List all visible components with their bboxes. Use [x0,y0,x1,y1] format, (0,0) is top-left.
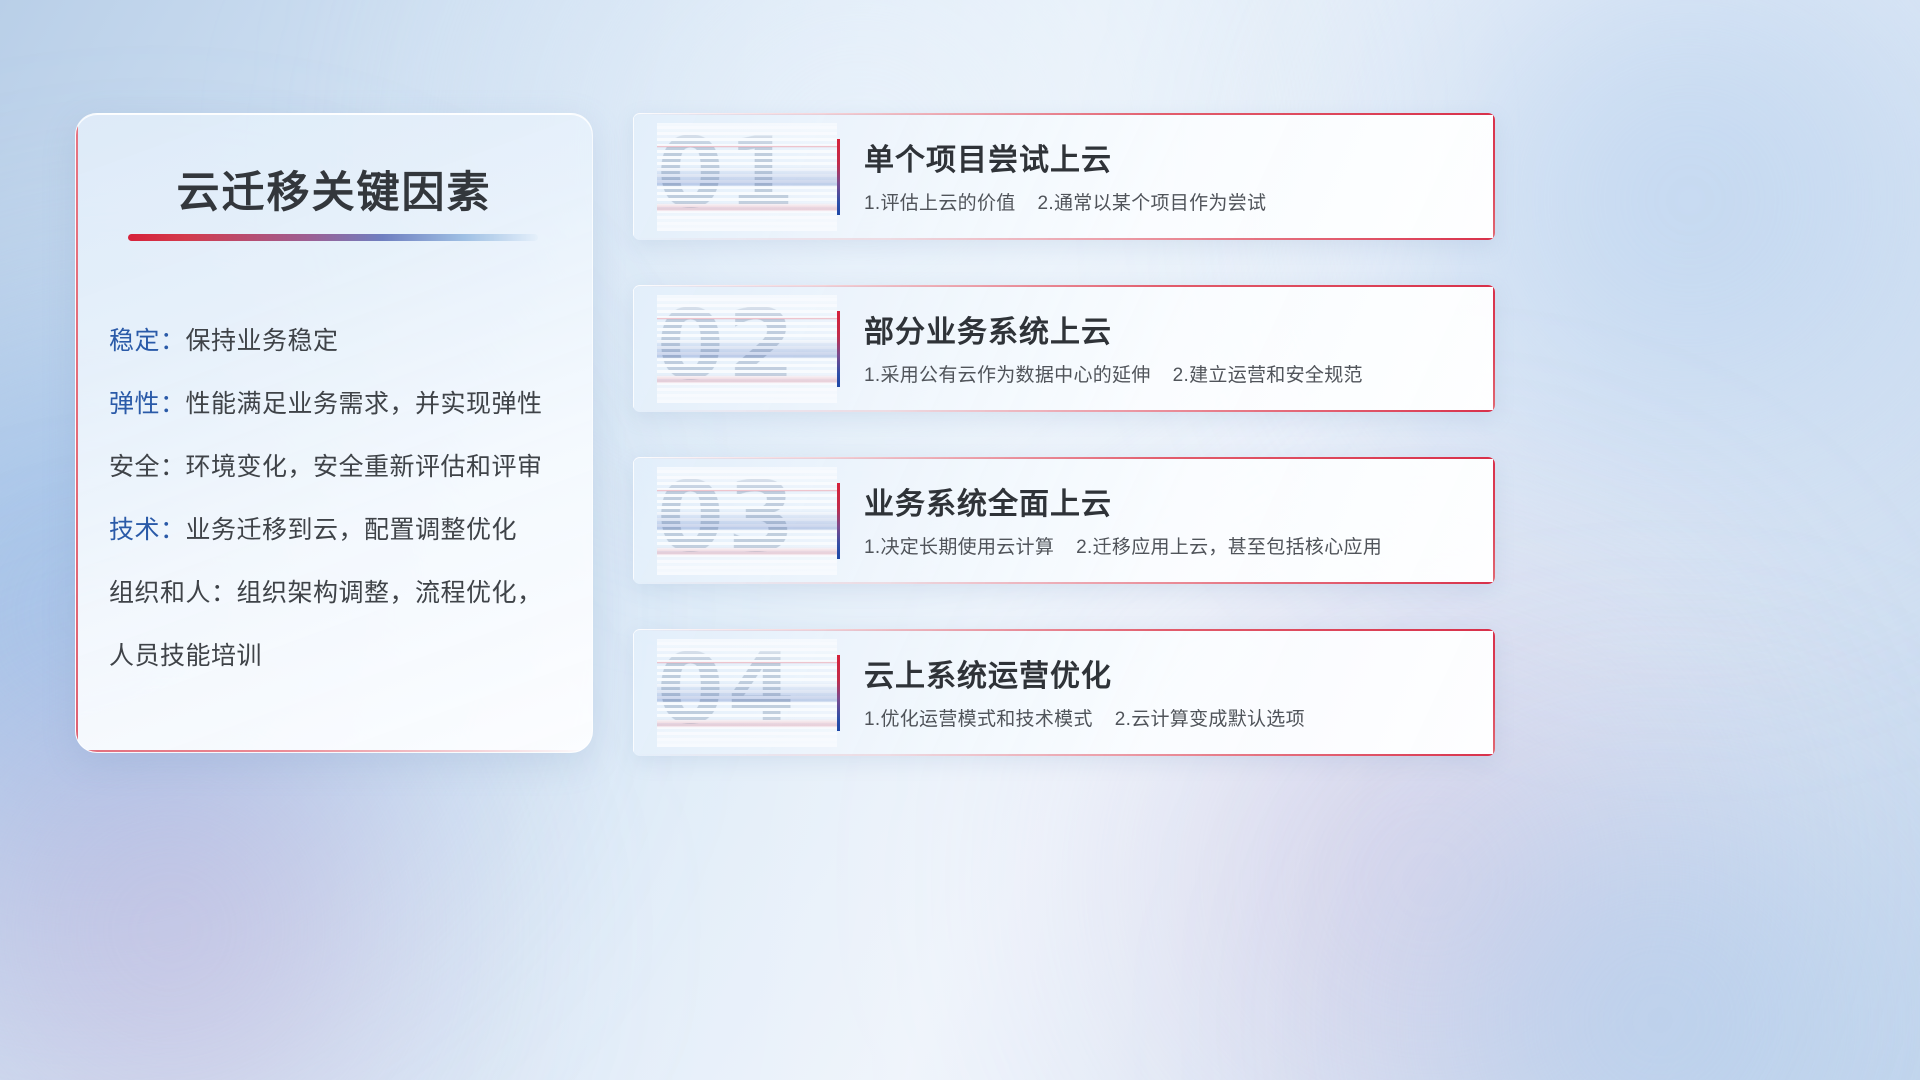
card-subtitle: 1.采用公有云作为数据中心的延伸2.建立运营和安全规范 [864,360,1363,387]
glitch-fade [657,123,837,231]
card-edge-right [1493,629,1495,756]
stage-card-04[interactable]: 04 云上系统运营优化 1.优化运营模式和技术模式2.云计算变成默认选项 [633,629,1495,756]
key-factors-panel: 云迁移关键因素 稳定：保持业务稳定 弹性：性能满足业务需求，并实现弹性 安全：环… [75,113,593,753]
card-edge-top [633,457,1495,459]
list-item: 组织和人：组织架构调整，流程优化， [109,562,564,625]
card-edge-left [633,113,634,240]
stage-number-glitch-icon: 04 [657,639,837,747]
card-edge-top [633,113,1495,115]
card-subtitle: 1.评估上云的价值2.通常以某个项目作为尝试 [864,188,1266,215]
factor-text: 人员技能培训 [109,642,262,670]
card-subtitle-part-1: 1.决定长期使用云计算 [864,537,1054,558]
stage-number-glitch-icon: 02 [657,295,837,403]
card-title: 云上系统运营优化 [864,651,1112,695]
card-divider-bar [837,139,840,215]
card-subtitle-part-2: 2.建立运营和安全规范 [1173,365,1363,386]
card-title: 部分业务系统上云 [864,307,1112,351]
card-edge-right [1493,113,1495,240]
factor-text: 保持业务稳定 [186,327,339,355]
stage-card-03[interactable]: 03 业务系统全面上云 1.决定长期使用云计算2.迁移应用上云，甚至包括核心应用 [633,457,1495,584]
card-subtitle: 1.决定长期使用云计算2.迁移应用上云，甚至包括核心应用 [864,532,1382,559]
factor-label: 稳定： [109,327,186,355]
slide-stage: 云迁移关键因素 稳定：保持业务稳定 弹性：性能满足业务需求，并实现弹性 安全：环… [0,0,1920,1080]
stage-card-02[interactable]: 02 部分业务系统上云 1.采用公有云作为数据中心的延伸2.建立运营和安全规范 [633,285,1495,412]
factor-label: 组织和人： [109,579,237,607]
card-subtitle-part-1: 1.评估上云的价值 [864,193,1016,214]
factor-text: 业务迁移到云，配置调整优化 [186,516,518,544]
list-item: 稳定：保持业务稳定 [109,310,564,373]
stage-number-glitch-icon: 01 [657,123,837,231]
list-item: 技术：业务迁移到云，配置调整优化 [109,499,564,562]
factor-text: 性能满足业务需求，并实现弹性 [186,390,543,418]
card-edge-left [633,457,634,584]
card-subtitle-part-1: 1.优化运营模式和技术模式 [864,709,1093,730]
list-item: 弹性：性能满足业务需求，并实现弹性 [109,373,564,436]
card-edge-top [633,285,1495,287]
factor-label: 弹性： [109,390,186,418]
card-edge-top [633,629,1495,631]
card-subtitle-part-2: 2.云计算变成默认选项 [1115,709,1305,730]
card-divider-bar [837,311,840,387]
stage-card-01[interactable]: 01 单个项目尝试上云 1.评估上云的价值2.通常以某个项目作为尝试 [633,113,1495,240]
card-edge-left [633,629,634,756]
page-title: 云迁移关键因素 [76,158,592,220]
list-item: 安全：环境变化，安全重新评估和评审 [109,436,564,499]
card-edge-left [633,285,634,412]
card-subtitle-part-2: 2.迁移应用上云，甚至包括核心应用 [1076,537,1382,558]
card-edge-bottom [633,582,1495,584]
glitch-fade [657,639,837,747]
card-subtitle-part-2: 2.通常以某个项目作为尝试 [1038,193,1267,214]
factor-label: 安全： [109,453,186,481]
card-subtitle-part-1: 1.采用公有云作为数据中心的延伸 [864,365,1151,386]
card-edge-right [1493,457,1495,584]
card-edge-right [1493,285,1495,412]
glitch-fade [657,467,837,575]
title-underline-rule [128,234,538,241]
card-edge-bottom [633,238,1495,240]
card-subtitle: 1.优化运营模式和技术模式2.云计算变成默认选项 [864,704,1305,731]
list-item-continuation: 人员技能培训 [109,625,564,688]
glitch-fade [657,295,837,403]
stage-number-glitch-icon: 03 [657,467,837,575]
card-divider-bar [837,483,840,559]
card-title: 单个项目尝试上云 [864,135,1112,179]
factor-text: 组织架构调整，流程优化， [237,579,543,607]
factor-text: 环境变化，安全重新评估和评审 [186,453,543,481]
factor-label: 技术： [109,516,186,544]
card-divider-bar [837,655,840,731]
card-edge-bottom [633,410,1495,412]
card-title: 业务系统全面上云 [864,479,1112,523]
card-edge-bottom [633,754,1495,756]
key-factors-list: 稳定：保持业务稳定 弹性：性能满足业务需求，并实现弹性 安全：环境变化，安全重新… [109,310,564,688]
